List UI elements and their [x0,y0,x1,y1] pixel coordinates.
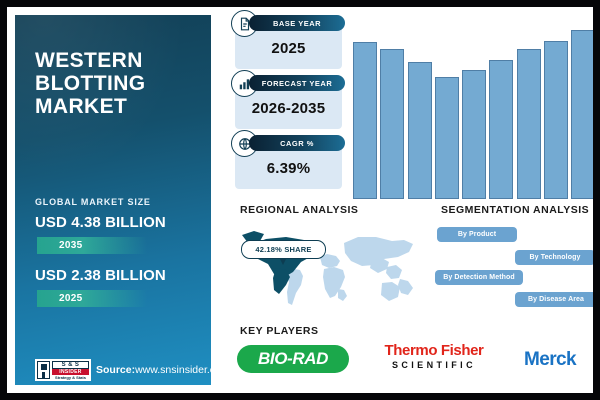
source-row: S & S INSIDER Strategy & Stats Source:ww… [35,359,211,381]
key-players-logos: BIO-RAD Thermo Fisher SCIENTIFIC Merck [235,343,593,377]
market-size-forecast-value: USD 4.38 BILLION [35,214,166,231]
segment-pill-by-disease-area[interactable]: By Disease Area [515,292,593,307]
bar-chart-bar [517,49,541,199]
kpi-card-forecast-year: FORECAST YEAR 2026-2035 [235,80,342,129]
bar-chart-bar [462,70,486,199]
global-market-size-label: GLOBAL MARKET SIZE [35,197,151,207]
world-map: 42.18% SHARE [232,221,422,317]
source-text[interactable]: Source:www.snsinsider.com [96,364,211,376]
kpi-card-cagr: CAGR % 6.39% [235,140,342,189]
kpi-value-forecast-year: 2026-2035 [235,100,342,117]
infographic-canvas: WESTERN BLOTTING MARKET GLOBAL MARKET SI… [7,7,593,393]
bar-chart-bar [435,77,459,199]
market-size-base-value: USD 2.38 BILLION [35,267,166,284]
logo-bio-rad: BIO-RAD [237,345,349,373]
world-map-svg [232,221,422,317]
segment-pill-by-detection-method[interactable]: By Detection Method [435,270,523,285]
bar-chart-bar [544,41,568,199]
kpi-label-cagr: CAGR % [249,135,345,151]
bar-chart-bar [489,60,513,199]
logo-initials: S & S [52,361,89,369]
segmentation-bar-chart [353,25,593,199]
person-podium-icon [37,361,50,379]
bar-chart-bar [408,62,432,199]
section-title-key-players: KEY PLAYERS [240,325,318,337]
section-title-regional: REGIONAL ANALYSIS [240,204,358,216]
logo-tagline: Strategy & Stats [52,375,89,380]
page-title-line-2: BLOTTING [35,72,205,95]
market-size-forecast-year-badge: 2035 [37,237,147,254]
logo-thermo-fisher-subtitle: SCIENTIFIC [375,359,493,371]
page-title: WESTERN BLOTTING MARKET [35,49,205,118]
kpi-value-cagr: 6.39% [235,160,342,177]
logo-merck: Merck [505,349,593,371]
kpi-value-base-year: 2025 [235,40,342,57]
logo-wordmark: S & S INSIDER Strategy & Stats [52,361,89,380]
logo-thermo-fisher-text: Thermo Fisher [375,343,493,359]
bar-chart-bars [353,25,593,199]
page-title-line-1: WESTERN [35,49,205,72]
bar-chart-bar [380,49,404,199]
source-url: www.snsinsider.com [135,364,211,376]
kpi-label-forecast-year: FORECAST YEAR [249,75,345,91]
logo-bio-rad-text: BIO-RAD [258,349,328,369]
segment-pill-by-technology[interactable]: By Technology [515,250,593,265]
kpi-label-base-year: BASE YEAR [249,15,345,31]
logo-thermo-fisher: Thermo Fisher SCIENTIFIC [375,343,493,371]
bar-chart-bar [571,30,593,199]
logo-merck-text: Merck [524,349,576,370]
bar-chart-bar [353,42,377,199]
market-size-base-year-badge: 2025 [37,290,147,307]
section-title-segmentation: SEGMENTATION ANALYSIS [441,204,589,216]
source-prefix: Source: [96,364,135,376]
regional-share-callout: 42.18% SHARE [241,240,326,259]
page-title-line-3: MARKET [35,95,205,118]
kpi-card-base-year: BASE YEAR 2025 [235,20,342,69]
left-hero-panel: WESTERN BLOTTING MARKET GLOBAL MARKET SI… [15,15,211,385]
sns-insider-logo: S & S INSIDER Strategy & Stats [35,359,91,381]
segment-pill-by-product[interactable]: By Product [437,227,517,242]
